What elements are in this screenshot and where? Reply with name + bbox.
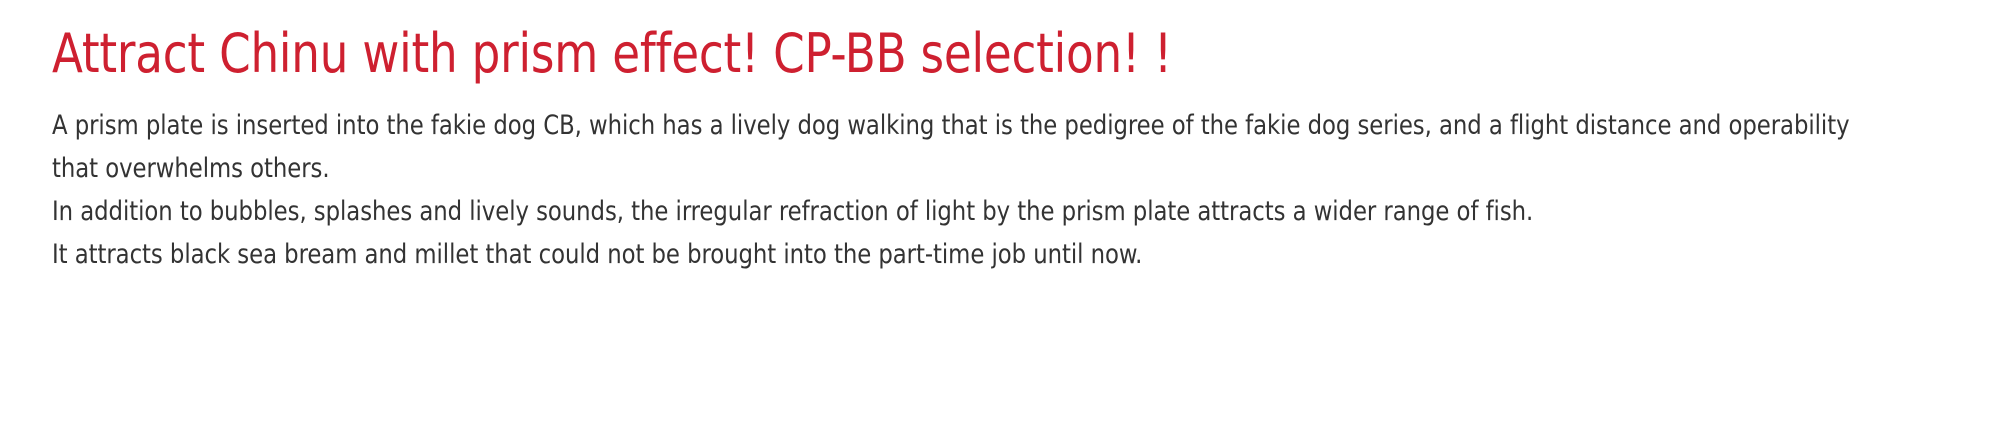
article-paragraph-2: In addition to bubbles, splashes and liv… bbox=[52, 190, 1872, 233]
page-title: Attract Chinu with prism effect! CP-BB s… bbox=[52, 18, 1172, 90]
article-paragraph-1: A prism plate is inserted into the fakie… bbox=[52, 104, 1872, 190]
article-body: A prism plate is inserted into the fakie… bbox=[52, 104, 1958, 276]
article-page: Attract Chinu with prism effect! CP-BB s… bbox=[0, 0, 2000, 437]
article-paragraph-3: It attracts black sea bream and millet t… bbox=[52, 233, 1872, 276]
